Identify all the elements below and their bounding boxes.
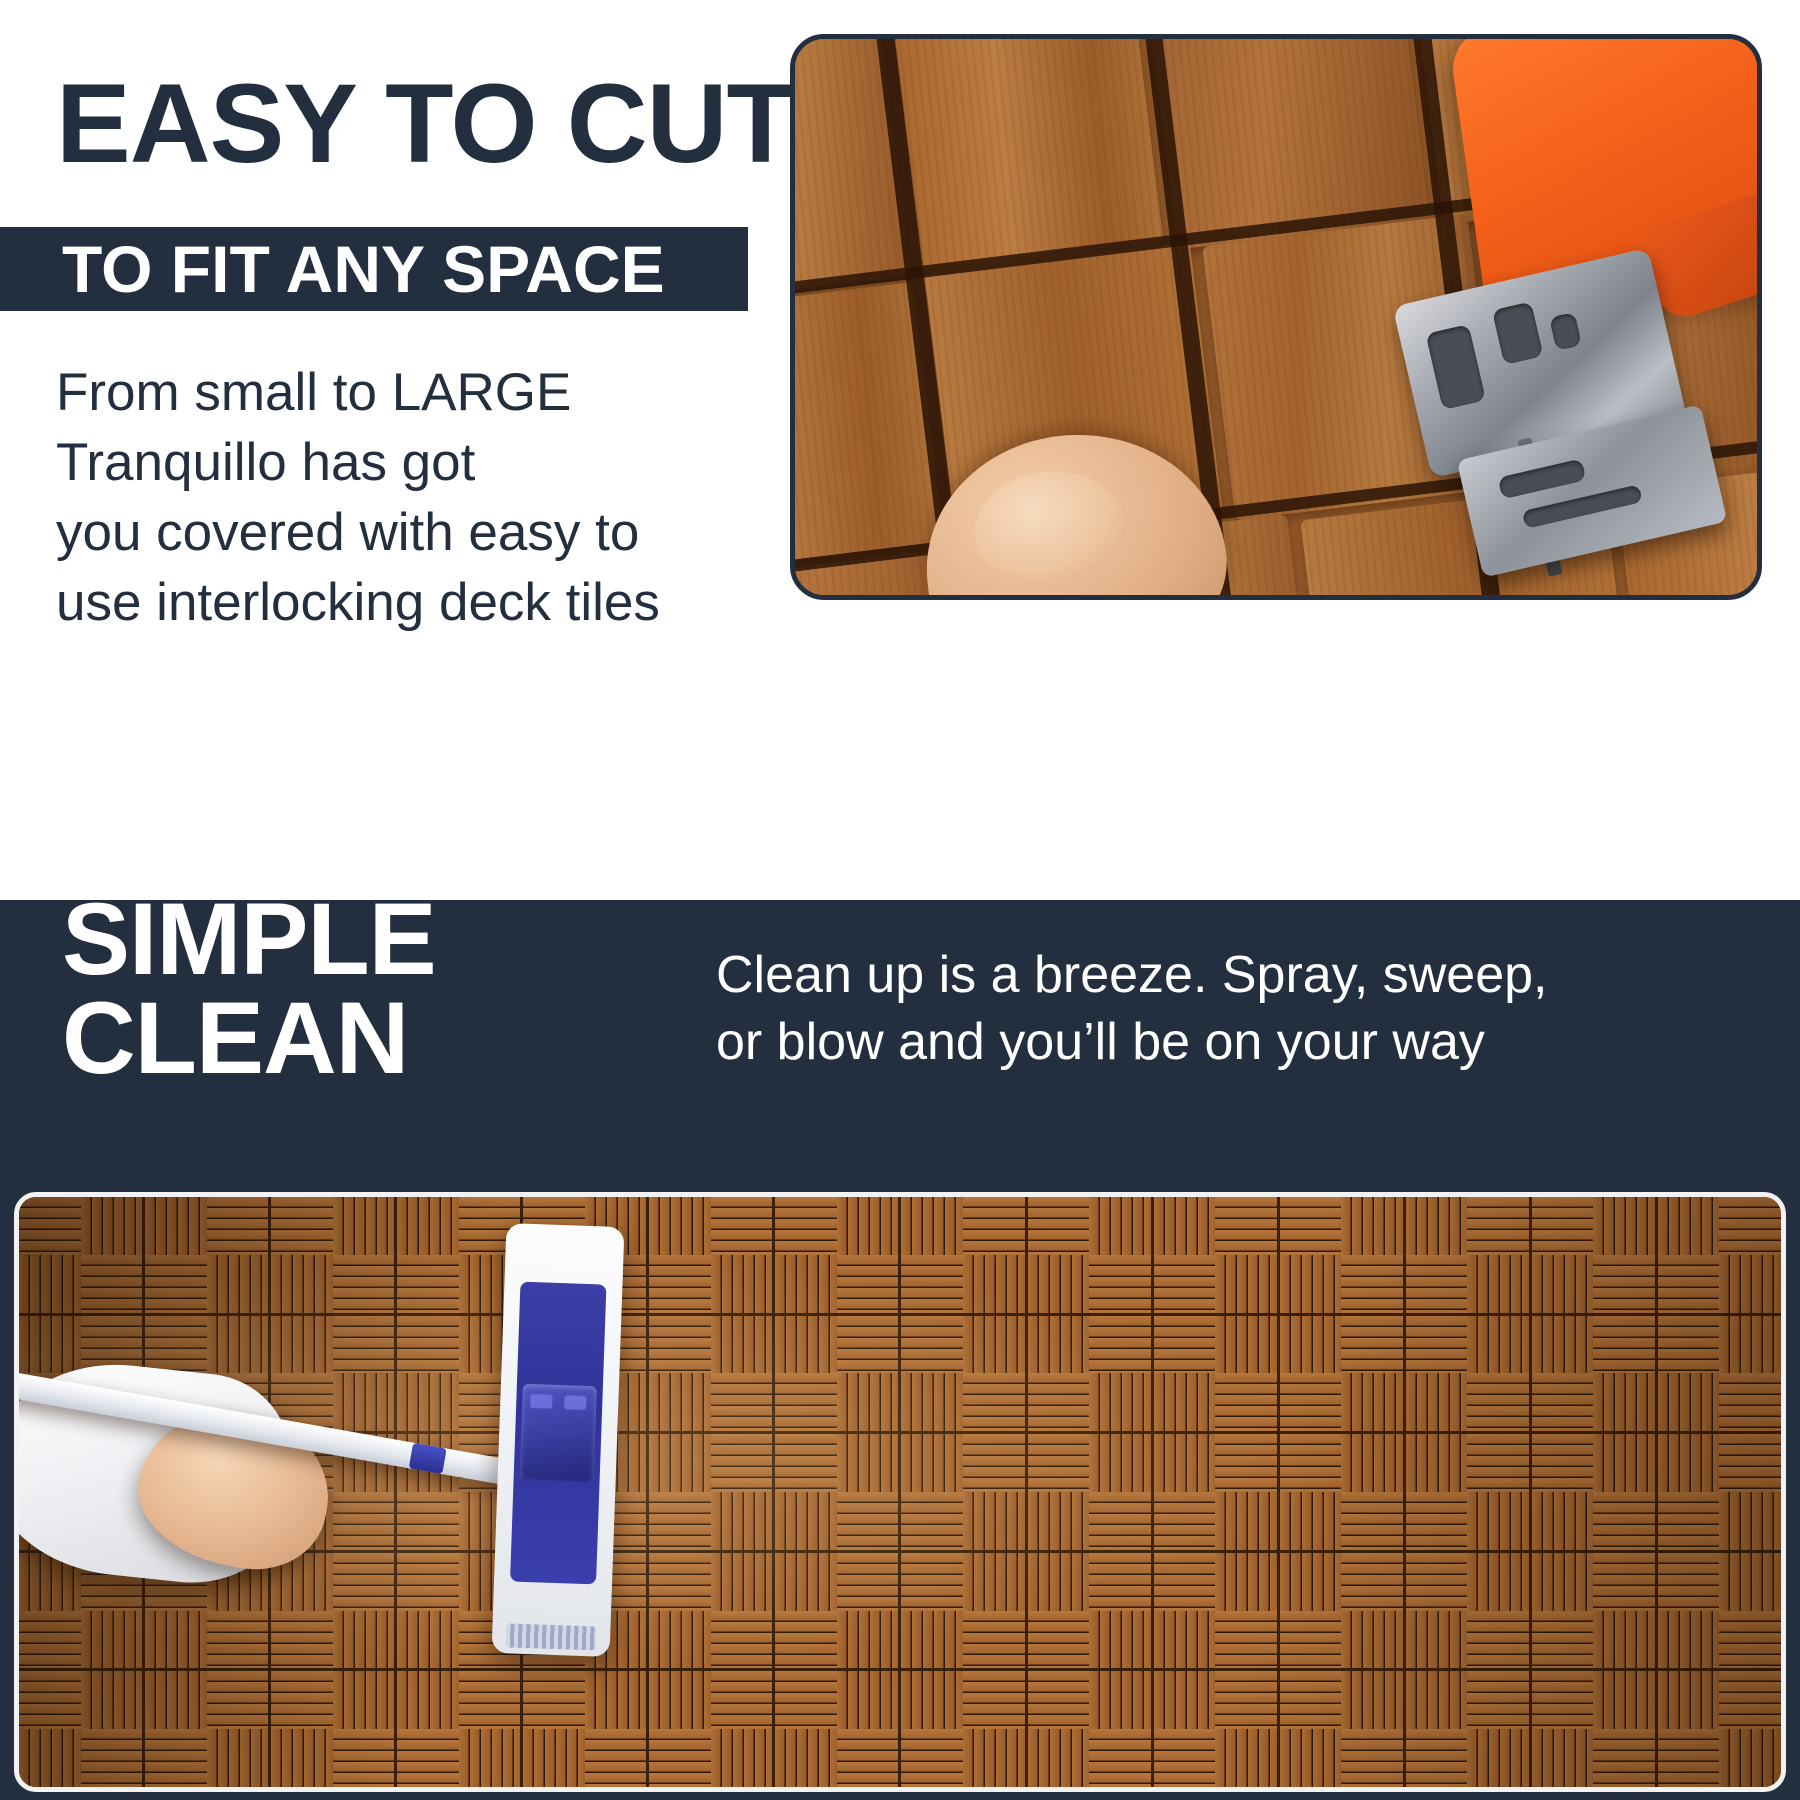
photo-cutting-deck-tile [790,34,1762,600]
body-line: you covered with easy to [56,498,736,568]
body-line: use interlocking deck tiles [56,568,736,638]
title-line: SIMPLE [62,890,436,989]
body-line: From small to LARGE [56,358,736,428]
photo-mopping-deck-tiles [14,1192,1786,1792]
section-easy-to-cut: EASY TO CUT TO FIT ANY SPACE From small … [0,0,1800,900]
simple-clean-title: SIMPLE CLEAN [62,890,436,1088]
mop-head [492,1223,625,1657]
page-title: EASY TO CUT [56,68,794,180]
simple-clean-body-copy: Clean up is a breeze. Spray, sweep, or b… [716,942,1536,1075]
subheadline-band: TO FIT ANY SPACE [0,227,748,311]
body-line: or blow and you’ll be on your way [716,1009,1536,1076]
top-body-copy: From small to LARGE Tranquillo has got y… [56,358,736,638]
mop-fringe [506,1623,597,1650]
body-line: Clean up is a breeze. Spray, sweep, [716,942,1536,1009]
subheadline-text: TO FIT ANY SPACE [62,233,665,306]
infographic-page: EASY TO CUT TO FIT ANY SPACE From small … [0,0,1800,1800]
section-simple-clean: SIMPLE CLEAN Clean up is a breeze. Spray… [0,900,1800,1800]
body-line: Tranquillo has got [56,428,736,498]
mop-clip [520,1384,597,1483]
title-line: CLEAN [62,989,436,1088]
